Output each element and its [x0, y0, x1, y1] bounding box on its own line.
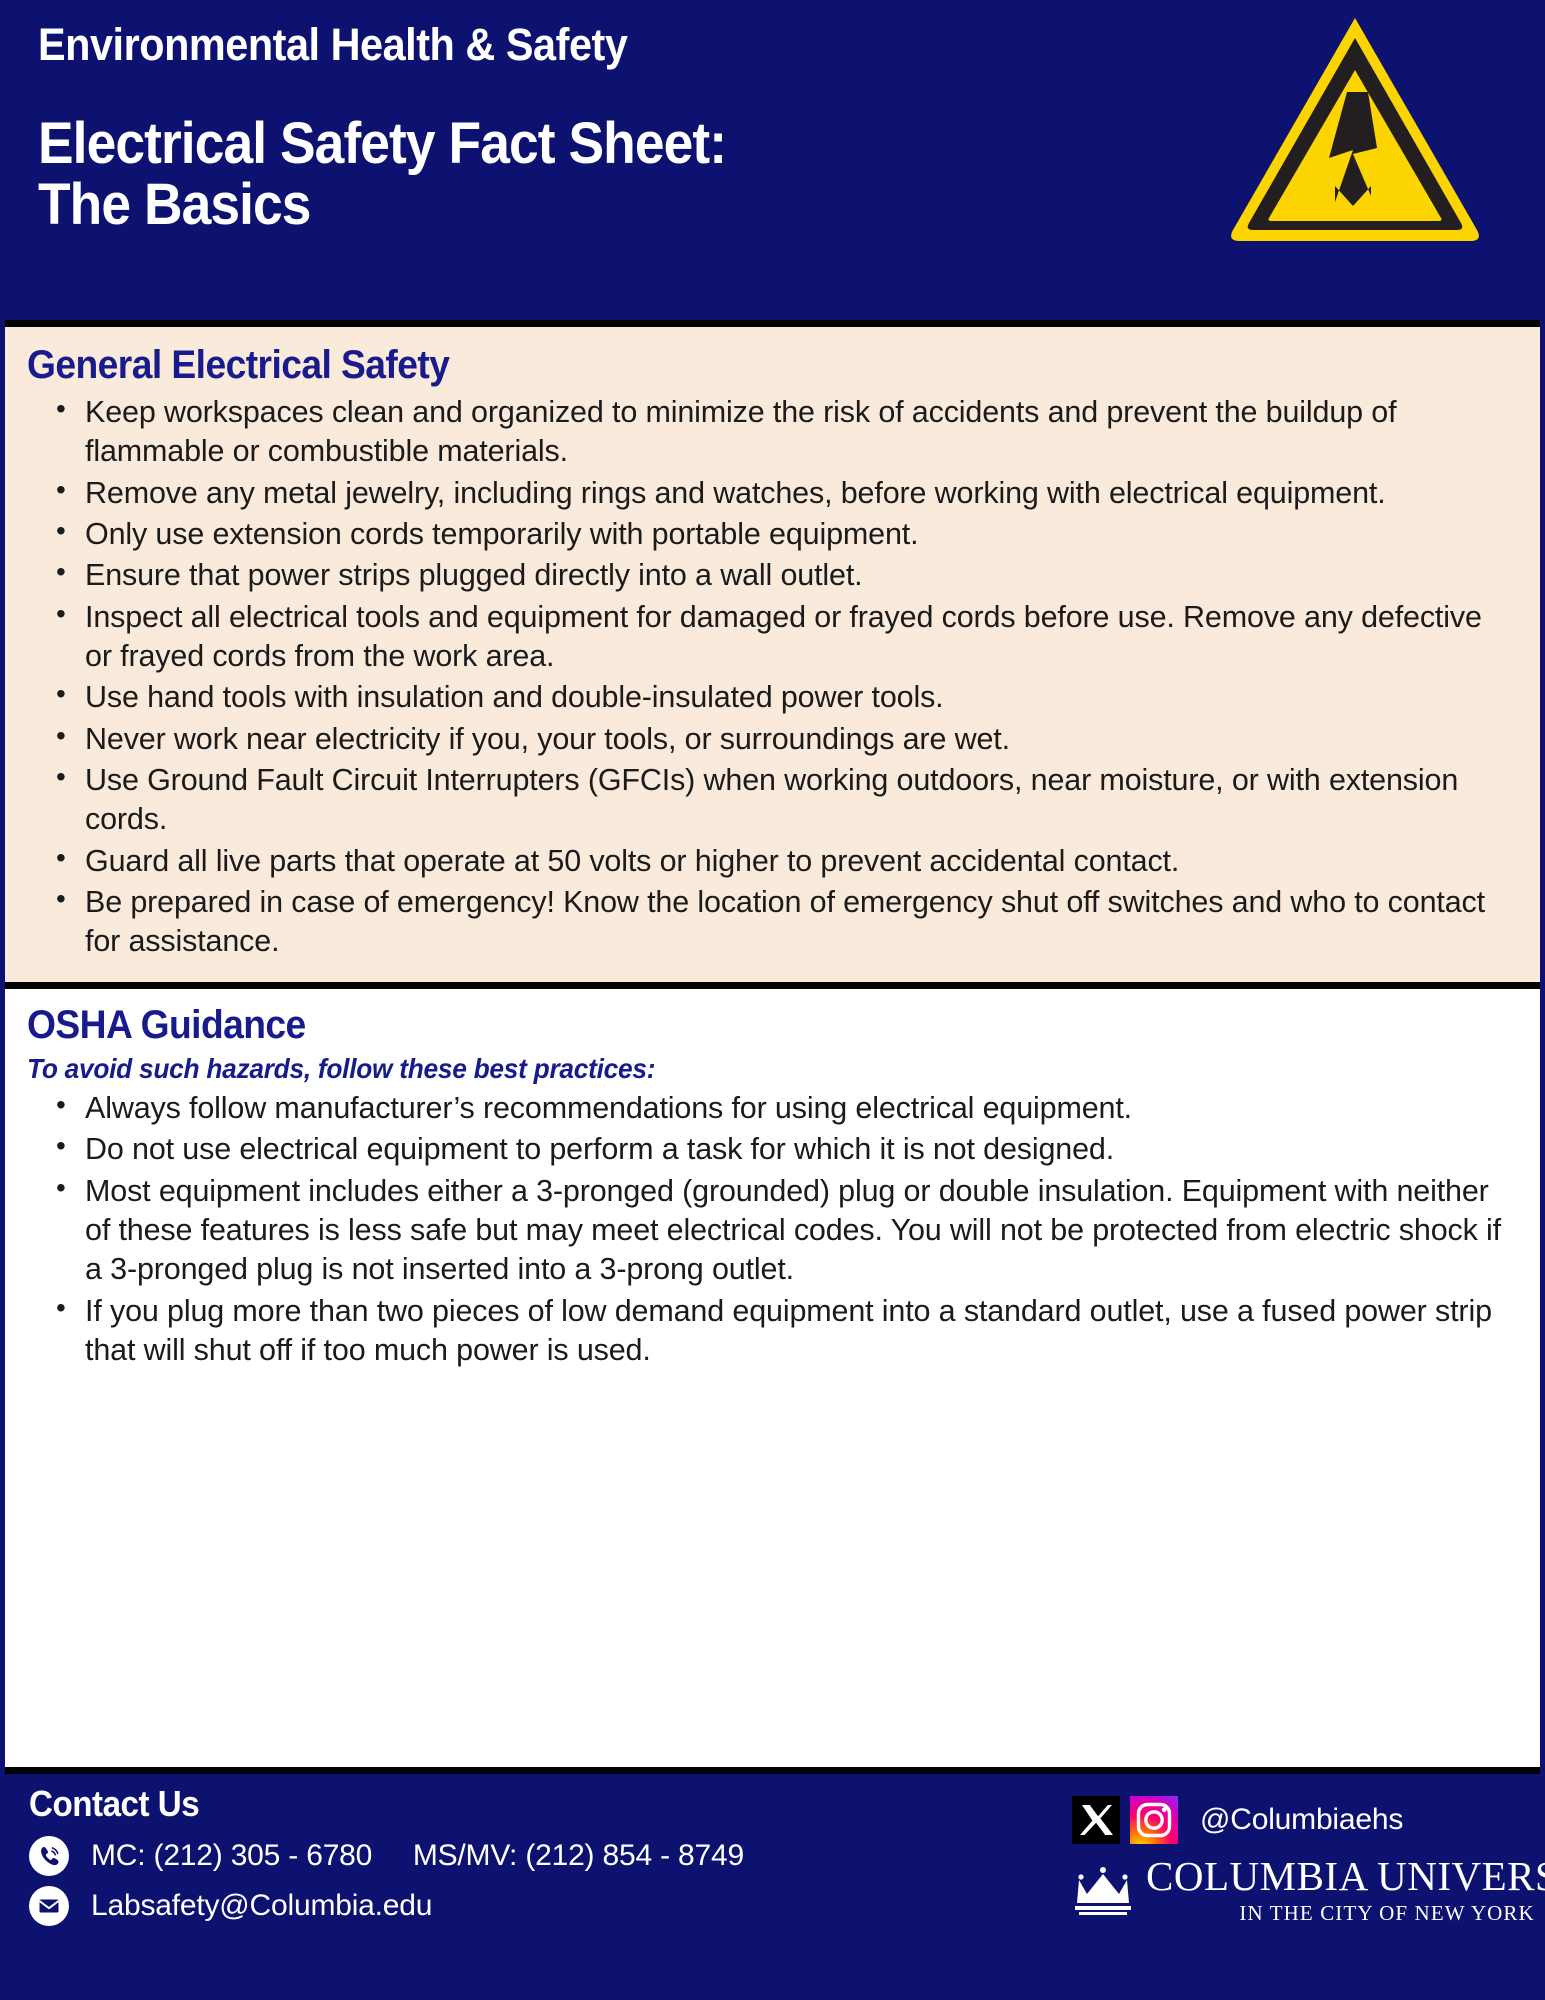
list-item: Use Ground Fault Circuit Interrupters (G…	[85, 761, 1512, 840]
university-tagline: IN THE CITY OF NEW YORK	[1239, 1901, 1534, 1926]
email-icon	[29, 1886, 69, 1926]
list-item: Do not use electrical equipment to perfo…	[85, 1130, 1512, 1169]
page-header: Environmental Health & Safety Electrical…	[5, 0, 1540, 327]
osha-subheading: To avoid such hazards, follow these best…	[27, 1053, 1423, 1085]
osha-bullet-list: Always follow manufacturer’s recommendat…	[27, 1089, 1512, 1370]
list-item: Most equipment includes either a 3-prong…	[85, 1172, 1512, 1290]
columbia-wordmark: COLUMBIA UNIVERSITY IN THE CITY OF NEW Y…	[1146, 1856, 1545, 1926]
instagram-icon[interactable]	[1130, 1796, 1178, 1844]
list-item: Keep workspaces clean and organized to m…	[85, 393, 1512, 472]
social-media-row: @Columbiaehs	[1072, 1796, 1403, 1844]
list-item: Remove any metal jewelry, including ring…	[85, 474, 1512, 513]
general-electrical-safety-section: General Electrical Safety Keep workspace…	[5, 327, 1540, 989]
list-item: Be prepared in case of emergency! Know t…	[85, 883, 1512, 962]
list-item: Never work near electricity if you, your…	[85, 720, 1512, 759]
fact-sheet-page: Environmental Health & Safety Electrical…	[0, 0, 1545, 2000]
page-title-line2: The Basics	[38, 174, 1420, 235]
columbia-crown-icon	[1072, 1865, 1134, 1917]
page-title: Electrical Safety Fact Sheet: The Basics	[38, 113, 1420, 236]
general-bullet-list: Keep workspaces clean and organized to m…	[27, 393, 1512, 962]
list-item: Always follow manufacturer’s recommendat…	[85, 1089, 1512, 1128]
email-address[interactable]: Labsafety@Columbia.edu	[91, 1889, 432, 1923]
page-title-line1: Electrical Safety Fact Sheet:	[38, 113, 1420, 174]
osha-guidance-section: OSHA Guidance To avoid such hazards, fol…	[5, 989, 1540, 1774]
university-name: COLUMBIA UNIVERSITY	[1146, 1856, 1545, 1897]
contact-footer: Contact Us MC: (212) 305 - 6780 MS/MV: (…	[5, 1774, 1540, 2000]
list-item: Use hand tools with insulation and doubl…	[85, 678, 1512, 717]
x-twitter-icon[interactable]	[1072, 1796, 1120, 1844]
electrical-hazard-warning-icon	[1225, 8, 1485, 248]
list-item: Only use extension cords temporarily wit…	[85, 515, 1512, 554]
list-item: Ensure that power strips plugged directl…	[85, 556, 1512, 595]
columbia-university-logo: COLUMBIA UNIVERSITY IN THE CITY OF NEW Y…	[1072, 1856, 1545, 1926]
phone-icon	[29, 1836, 69, 1876]
social-handle[interactable]: @Columbiaehs	[1200, 1803, 1403, 1837]
osha-section-heading: OSHA Guidance	[27, 1003, 1408, 1047]
general-section-heading: General Electrical Safety	[27, 343, 1408, 387]
list-item: Guard all live parts that operate at 50 …	[85, 842, 1512, 881]
department-title: Environmental Health & Safety	[38, 22, 1420, 67]
phone-numbers[interactable]: MC: (212) 305 - 6780 MS/MV: (212) 854 - …	[91, 1839, 744, 1873]
list-item: Inspect all electrical tools and equipme…	[85, 598, 1512, 677]
footer-right-block: @Columbiaehs COLUMBIA UNIVERSITY IN THE …	[1072, 1796, 1502, 1926]
list-item: If you plug more than two pieces of low …	[85, 1292, 1512, 1371]
